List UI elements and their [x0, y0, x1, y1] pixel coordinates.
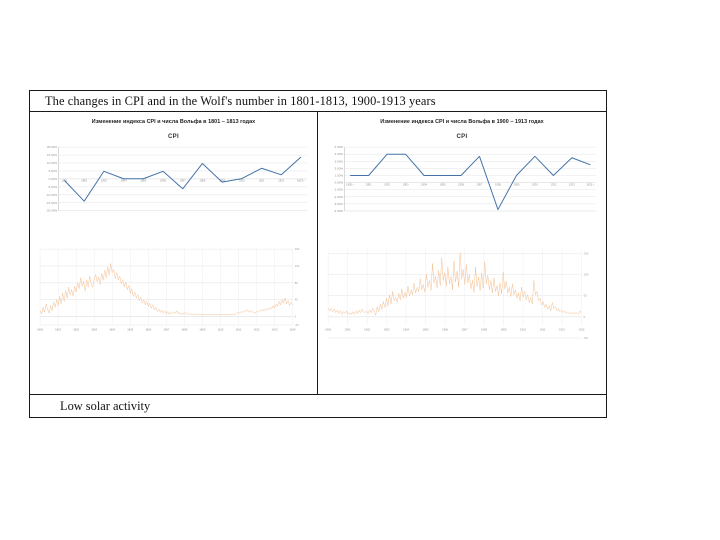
svg-text:5.00%: 5.00% [49, 169, 58, 173]
svg-text:1904: 1904 [421, 182, 427, 186]
svg-text:1908: 1908 [495, 182, 501, 186]
slide-canvas: The changes in CPI and in the Wolf's num… [0, 0, 720, 540]
svg-text:1812: 1812 [278, 179, 284, 183]
svg-text:-2.00%: -2.00% [334, 195, 344, 199]
svg-text:1802: 1802 [73, 327, 79, 331]
svg-text:1907: 1907 [477, 182, 483, 186]
chart-wolf-left-plot: 16012080400-2018001801180218031804180518… [36, 245, 311, 339]
svg-text:50: 50 [584, 294, 588, 298]
chart-cpi-1900-1913: CPI 5.00%4.00%3.00%2.00%1.00%0.00%-1.00%… [324, 131, 600, 241]
svg-text:100: 100 [584, 273, 589, 277]
svg-text:120: 120 [295, 264, 300, 268]
cpi-right-svg: 5.00%4.00%3.00%2.00%1.00%0.00%-1.00%-2.0… [324, 143, 600, 234]
svg-text:1908: 1908 [481, 328, 487, 332]
chart-cpi-right-title: CPI [324, 131, 600, 143]
svg-text:1912: 1912 [569, 182, 575, 186]
panel-heading-left: Изменение индекса CPI и числа Вольфа в 1… [30, 112, 317, 131]
svg-text:1906: 1906 [442, 328, 448, 332]
svg-text:1912: 1912 [559, 328, 565, 332]
svg-text:1907: 1907 [462, 328, 468, 332]
svg-text:1910: 1910 [520, 328, 526, 332]
svg-text:160: 160 [295, 247, 300, 251]
svg-text:-3.00%: -3.00% [334, 202, 344, 206]
svg-text:10.00%: 10.00% [47, 161, 57, 165]
svg-text:1900: 1900 [325, 328, 331, 332]
slide-footer-bar: Low solar activity [30, 394, 606, 417]
cpi-left-svg: 20.00%15.00%10.00%5.00%0.00%-5.00%-10.00… [36, 143, 311, 233]
svg-text:-10.00%: -10.00% [46, 193, 57, 197]
svg-text:0: 0 [584, 315, 586, 319]
svg-text:1807: 1807 [180, 179, 186, 183]
svg-text:1.00%: 1.00% [335, 174, 344, 178]
svg-text:0.00%: 0.00% [49, 177, 58, 181]
svg-text:1800: 1800 [37, 327, 43, 331]
chart-wolf-right-plot: 150100500-501900190119021903190419051906… [324, 245, 600, 340]
chart-cpi-left-title: CPI [36, 131, 311, 143]
svg-text:80: 80 [295, 281, 299, 285]
svg-text:1804: 1804 [109, 327, 115, 331]
svg-text:40: 40 [295, 298, 299, 302]
svg-text:1806: 1806 [160, 179, 166, 183]
svg-text:1809: 1809 [199, 327, 205, 331]
svg-text:1909: 1909 [501, 328, 507, 332]
svg-text:1904: 1904 [403, 328, 409, 332]
svg-text:1803: 1803 [91, 327, 97, 331]
svg-text:1814: 1814 [290, 327, 296, 331]
svg-text:-1.00%: -1.00% [334, 188, 344, 192]
svg-text:1808: 1808 [181, 327, 187, 331]
panel-heading-left-text: Изменение индекса CPI и числа Вольфа в 1… [92, 119, 255, 125]
chart-cpi-left-plot: 20.00%15.00%10.00%5.00%0.00%-5.00%-10.00… [36, 143, 311, 233]
slide-title-bar: The changes in CPI and in the Wolf's num… [30, 91, 606, 112]
svg-text:1811: 1811 [236, 327, 242, 331]
svg-text:1901: 1901 [366, 182, 372, 186]
svg-text:1906: 1906 [458, 182, 464, 186]
svg-text:1911: 1911 [551, 182, 557, 186]
svg-text:1813: 1813 [272, 327, 278, 331]
svg-text:1911: 1911 [540, 328, 546, 332]
svg-text:-20.00%: -20.00% [46, 209, 57, 213]
svg-text:-20: -20 [295, 323, 300, 327]
svg-text:-15.00%: -15.00% [46, 201, 57, 205]
svg-text:1802: 1802 [81, 179, 87, 183]
svg-text:1812: 1812 [254, 327, 260, 331]
svg-text:1805: 1805 [127, 327, 133, 331]
svg-text:-5.00%: -5.00% [48, 185, 58, 189]
svg-text:1903: 1903 [403, 182, 409, 186]
svg-text:1801: 1801 [55, 327, 61, 331]
svg-text:15.00%: 15.00% [47, 153, 57, 157]
svg-text:1905: 1905 [423, 328, 429, 332]
svg-text:1909: 1909 [513, 182, 519, 186]
svg-text:1901: 1901 [345, 328, 351, 332]
chart-wolf-1900-1913: 150100500-501900190119021903190419051906… [324, 245, 600, 341]
svg-text:1913: 1913 [579, 328, 585, 332]
svg-text:-50: -50 [584, 336, 589, 340]
svg-text:1903: 1903 [384, 328, 390, 332]
svg-text:1806: 1806 [145, 327, 151, 331]
svg-text:0.00%: 0.00% [335, 181, 344, 185]
panel-1801-1813: Изменение индекса CPI и числа Вольфа в 1… [30, 112, 318, 394]
svg-text:1905: 1905 [440, 182, 446, 186]
svg-text:-4.00%: -4.00% [334, 209, 344, 213]
svg-text:2.00%: 2.00% [335, 166, 344, 170]
svg-text:150: 150 [584, 251, 589, 255]
panel-container: Изменение индекса CPI и числа Вольфа в 1… [30, 112, 606, 394]
wolf-right-svg: 150100500-501900190119021903190419051906… [324, 245, 600, 340]
panel-1900-1913: Изменение индекса CPI и числа Вольфа в 1… [318, 112, 606, 394]
svg-text:1807: 1807 [163, 327, 169, 331]
svg-text:3.00%: 3.00% [335, 159, 344, 163]
slide-title: The changes in CPI and in the Wolf's num… [30, 94, 436, 109]
svg-text:1803: 1803 [101, 179, 107, 183]
chart-wolf-1801-1813: 16012080400-2018001801180218031804180518… [36, 245, 311, 341]
svg-text:1902: 1902 [364, 328, 370, 332]
slide-footer: Low solar activity [30, 399, 150, 414]
chart-cpi-1801-1813: CPI 20.00%15.00%10.00%5.00%0.00%-5.00%-1… [36, 131, 311, 241]
content-frame: The changes in CPI and in the Wolf's num… [29, 90, 607, 418]
svg-text:4.00%: 4.00% [335, 152, 344, 156]
panel-heading-right-text: Изменение индекса CPI и числа Вольфа в 1… [380, 119, 543, 125]
panel-heading-right: Изменение индекса CPI и числа Вольфа в 1… [318, 112, 606, 131]
svg-text:1810: 1810 [217, 327, 223, 331]
chart-cpi-right-plot: 5.00%4.00%3.00%2.00%1.00%0.00%-1.00%-2.0… [324, 143, 600, 234]
svg-text:1811: 1811 [259, 179, 265, 183]
svg-text:20.00%: 20.00% [47, 145, 57, 149]
svg-text:5.00%: 5.00% [335, 145, 344, 149]
svg-text:0: 0 [295, 315, 297, 319]
svg-text:1902: 1902 [384, 182, 390, 186]
wolf-left-svg: 16012080400-2018001801180218031804180518… [36, 245, 311, 339]
svg-text:1910: 1910 [532, 182, 538, 186]
svg-text:1808: 1808 [199, 179, 205, 183]
